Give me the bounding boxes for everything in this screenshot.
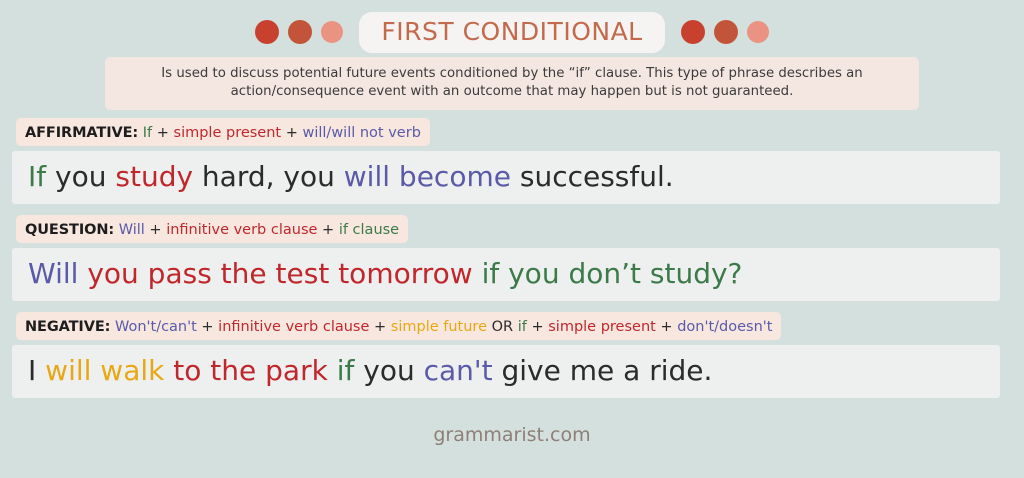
formula-segment: + [281, 125, 302, 141]
footer: grammarist.com [0, 424, 1024, 446]
formula-segment: infinitive verb clause [218, 319, 369, 335]
footer-attribution: grammarist.com [433, 424, 590, 446]
description-box: Is used to discuss potential future even… [105, 57, 919, 110]
sentence-segment: you [46, 160, 115, 193]
formula-segment: + [197, 319, 218, 335]
section-question: QUESTION: Will + infinitive verb clause … [0, 215, 1024, 301]
sentence-segment: you [354, 354, 423, 387]
section-negative: NEGATIVE: Won't/can't + infinitive verb … [0, 312, 1024, 398]
sentence-segment: successful. [511, 160, 674, 193]
sentence-segment: will walk [45, 354, 164, 387]
formula-segment: + [527, 319, 548, 335]
formula-segment: if [518, 319, 527, 335]
circle-icon [321, 21, 343, 43]
formula-segment: + [145, 222, 166, 238]
formula-pill-affirmative: AFFIRMATIVE: If + simple present + will/… [16, 118, 430, 146]
sentence-segment: can't [424, 354, 493, 387]
page-title-text: FIRST CONDITIONAL [381, 17, 642, 46]
sentence-segment [78, 257, 87, 290]
formula-pill-negative: NEGATIVE: Won't/can't + infinitive verb … [16, 312, 781, 340]
sentence-segment: give me a ride. [493, 354, 713, 387]
formula-segment: if clause [339, 222, 399, 238]
formula-segment: will/will not verb [302, 125, 420, 141]
formula-segment: OR [487, 319, 518, 335]
description-text: Is used to discuss potential future even… [119, 65, 905, 101]
formula-label: AFFIRMATIVE: [25, 125, 138, 141]
formula-segment: + [152, 125, 173, 141]
decorative-dots-right [681, 20, 769, 44]
sentence-segment: will become [344, 160, 511, 193]
sentence-segment: if [337, 354, 355, 387]
section-affirmative: AFFIRMATIVE: If + simple present + will/… [0, 118, 1024, 204]
sentence-segment [328, 354, 337, 387]
page-title: FIRST CONDITIONAL [359, 12, 664, 53]
formula-segment: + [369, 319, 390, 335]
formula-label: QUESTION: [25, 222, 114, 238]
example-sentence-question: Will you pass the test tomorrow if you d… [12, 248, 1000, 301]
formula-segment: If [138, 125, 152, 141]
formula-segment: simple present [548, 319, 656, 335]
formula-label: NEGATIVE: [25, 319, 110, 335]
sentence-segment: you pass the test tomorrow [87, 257, 472, 290]
example-sentence-affirmative: If you study hard, you will become succe… [12, 151, 1000, 204]
sentence-segment: if you don’t study? [482, 257, 743, 290]
sentence-segment: hard, you [193, 160, 344, 193]
circle-icon [714, 20, 738, 44]
circle-icon [255, 20, 279, 44]
formula-segment: infinitive verb clause [166, 222, 317, 238]
formula-segment: Will [114, 222, 145, 238]
sections-list: AFFIRMATIVE: If + simple present + will/… [0, 118, 1024, 409]
sentence-segment: Will [28, 257, 78, 290]
infographic-canvas: FIRST CONDITIONAL Is used to discuss pot… [0, 0, 1024, 478]
formula-segment: Won't/can't [110, 319, 196, 335]
circle-icon [747, 21, 769, 43]
circle-icon [681, 20, 705, 44]
sentence-segment [164, 354, 173, 387]
formula-segment: simple present [174, 125, 282, 141]
sentence-segment: If [28, 160, 46, 193]
formula-segment: don't/doesn't [677, 319, 772, 335]
example-sentence-negative: I will walk to the park if you can't giv… [12, 345, 1000, 398]
formula-segment: + [317, 222, 338, 238]
formula-segment: + [656, 319, 677, 335]
sentence-segment [473, 257, 482, 290]
circle-icon [288, 20, 312, 44]
formula-pill-question: QUESTION: Will + infinitive verb clause … [16, 215, 408, 243]
sentence-segment: I [28, 354, 45, 387]
formula-segment: simple future [391, 319, 487, 335]
header: FIRST CONDITIONAL [0, 0, 1024, 54]
decorative-dots-left [255, 20, 343, 44]
sentence-segment: study [115, 160, 193, 193]
sentence-segment: to the park [173, 354, 328, 387]
